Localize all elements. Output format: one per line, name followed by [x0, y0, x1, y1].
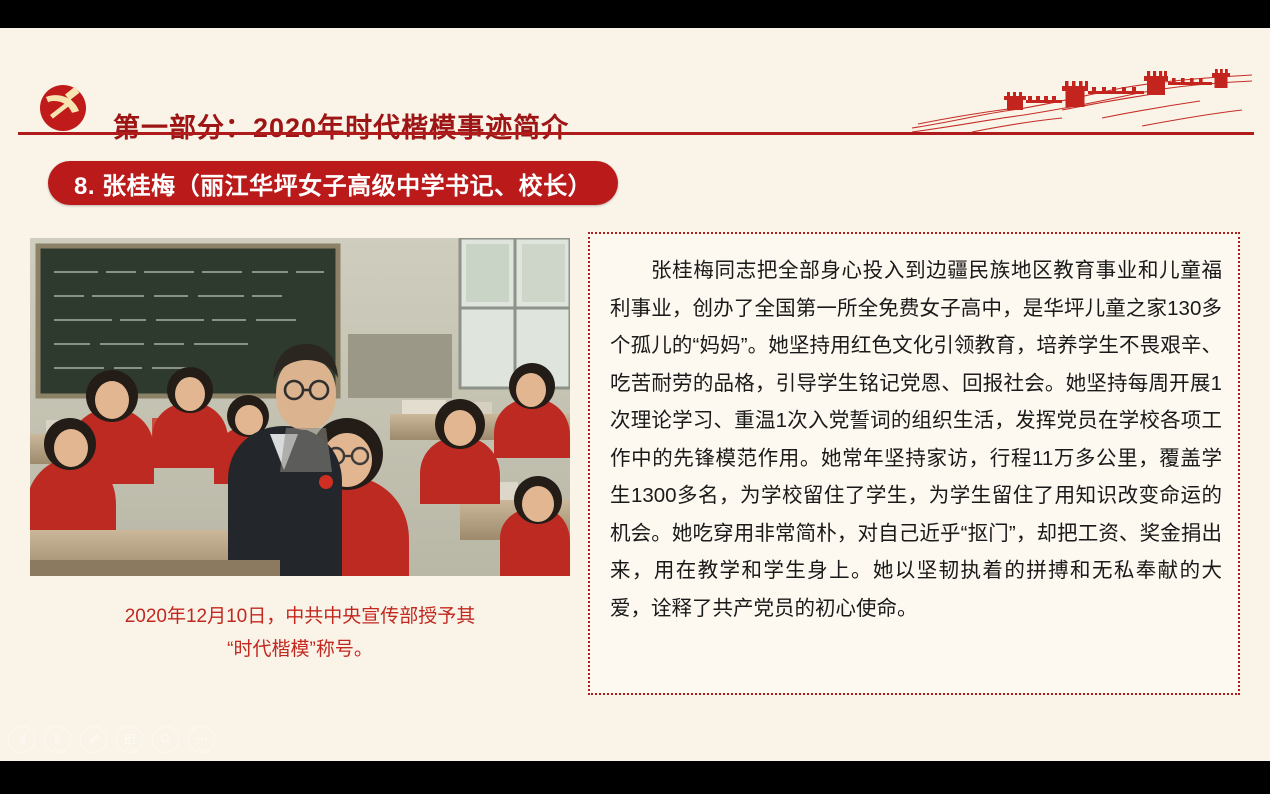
more-options-button[interactable] — [188, 726, 215, 753]
page-title: 第一部分：2020年时代楷模事迹简介 — [113, 106, 569, 145]
party-emblem-hammer-sickle-icon — [32, 84, 94, 132]
caption-line-2: “时代楷模”称号。 — [30, 633, 570, 666]
previous-slide-button[interactable] — [8, 726, 35, 753]
presentation-toolbar[interactable] — [8, 726, 215, 752]
slide-overview-button[interactable] — [116, 726, 143, 753]
great-wall-illustration-icon — [912, 66, 1252, 132]
pen-annotate-button[interactable] — [80, 726, 107, 753]
zoom-button[interactable] — [152, 726, 179, 753]
header-divider — [18, 132, 1254, 135]
caption-line-1: 2020年12月10日，中共中央宣传部授予其 — [125, 606, 476, 627]
section-title-badge: 8. 张桂梅（丽江华坪女子高级中学书记、校长） — [48, 161, 618, 205]
next-slide-button[interactable] — [44, 726, 71, 753]
slide-canvas: 第一部分：2020年时代楷模事迹简介 — [0, 0, 1270, 794]
biography-text: 张桂梅同志把全部身心投入到边疆民族地区教育事业和儿童福利事业，创办了全国第一所全… — [610, 252, 1222, 627]
photo-caption: 2020年12月10日，中共中央宣传部授予其 “时代楷模”称号。 — [30, 600, 570, 666]
biography-textbox: 张桂梅同志把全部身心投入到边疆民族地区教育事业和儿童福利事业，创办了全国第一所全… — [588, 232, 1240, 695]
zhang-guimei-classroom-photo — [30, 238, 570, 576]
bottom-letterbox-band — [0, 761, 1270, 794]
slide-header: 第一部分：2020年时代楷模事迹简介 — [0, 28, 1270, 141]
top-letterbox-band — [0, 0, 1270, 28]
